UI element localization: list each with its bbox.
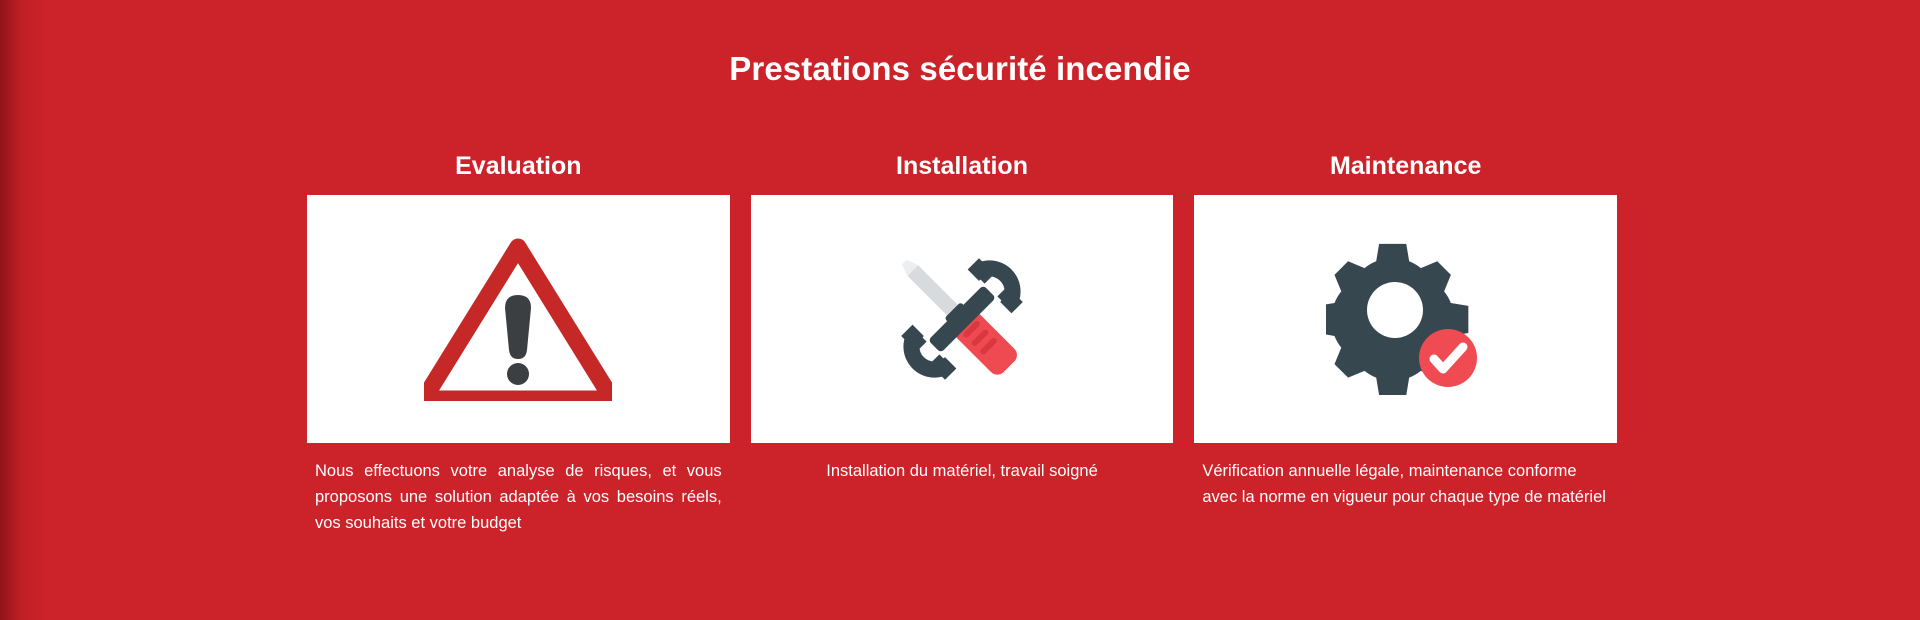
service-description-evaluation: Nous effectuons votre analyse de risques… — [307, 458, 730, 536]
service-heading-installation: Installation — [751, 153, 1174, 181]
service-column-evaluation: Evaluation Nous effectuons votre analyse… — [307, 153, 730, 536]
service-description-maintenance: Vérification annuelle légale, maintenanc… — [1194, 458, 1617, 510]
service-heading-maintenance: Maintenance — [1194, 153, 1617, 181]
service-column-installation: Installation — [751, 153, 1174, 536]
services-section: Prestations sécurité incendie Evaluation… — [0, 0, 1920, 620]
service-card-evaluation — [307, 195, 730, 443]
left-edge-shadow — [0, 0, 46, 620]
service-card-installation — [751, 195, 1174, 443]
service-heading-evaluation: Evaluation — [307, 153, 730, 181]
wrench-screwdriver-icon — [877, 244, 1047, 394]
page-title: Prestations sécurité incendie — [0, 50, 1920, 88]
service-column-maintenance: Maintenance Vérification annuelle légale… — [1194, 153, 1617, 536]
services-row: Evaluation Nous effectuons votre analyse… — [307, 153, 1617, 536]
gear-check-icon — [1326, 243, 1486, 395]
service-description-installation: Installation du matériel, travail soigné — [751, 458, 1174, 484]
service-card-maintenance — [1194, 195, 1617, 443]
warning-triangle-icon — [424, 237, 612, 401]
